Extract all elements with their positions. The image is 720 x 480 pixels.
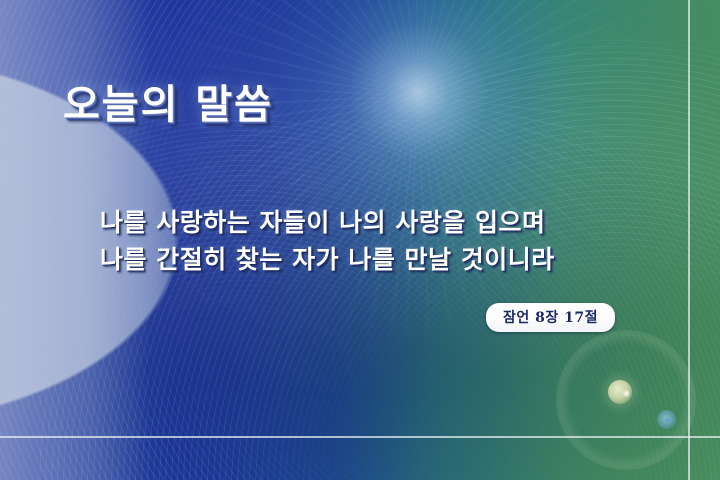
page-title: 오늘의 말씀 [63,72,273,130]
verse-line-2: 나를 간절히 찾는 자가 나를 만날 것이니라 [100,241,640,278]
verse-line-1: 나를 사랑하는 자들이 나의 사랑을 입으며 [100,204,640,241]
scripture-slide: 오늘의 말씀 나를 사랑하는 자들이 나의 사랑을 입으며 나를 간절히 찾는 … [0,0,720,480]
verse-text-block: 나를 사랑하는 자들이 나의 사랑을 입으며 나를 간절히 찾는 자가 나를 만… [100,204,640,278]
slide-content: 오늘의 말씀 나를 사랑하는 자들이 나의 사랑을 입으며 나를 간절히 찾는 … [0,0,720,480]
scripture-citation-badge: 잠언 8장 17절 [486,303,615,332]
